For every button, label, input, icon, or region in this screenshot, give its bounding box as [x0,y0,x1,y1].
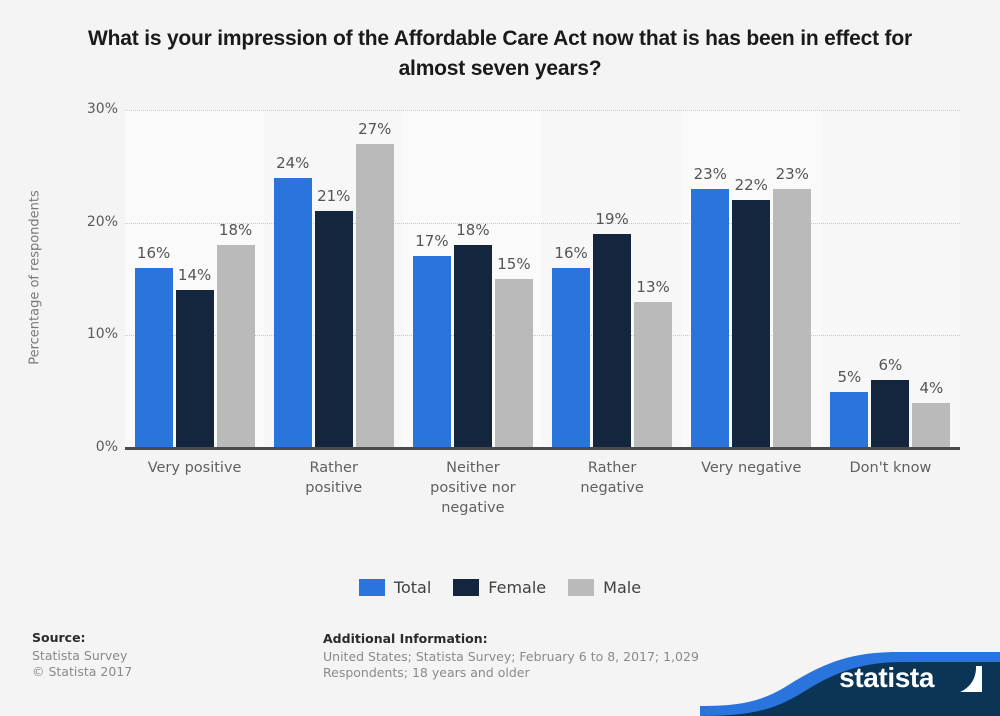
bar[interactable] [830,392,868,448]
bar[interactable] [413,256,451,448]
plot-area: 16%14%18%24%21%27%17%18%15%16%19%13%23%2… [125,110,960,448]
bar[interactable] [593,234,631,448]
y-axis-tick-label: 0% [48,439,118,455]
bar[interactable] [495,279,533,448]
bar-value-label: 16% [541,244,601,262]
legend-label: Female [488,578,546,597]
bar[interactable] [356,144,394,448]
bar-value-label: 15% [484,255,544,273]
x-axis-category-line: negative [543,478,682,498]
bar[interactable] [773,189,811,448]
gridline [125,110,960,111]
bar[interactable] [634,302,672,448]
bar-value-label: 23% [762,165,822,183]
x-axis-baseline [125,447,960,450]
bar[interactable] [315,211,353,448]
source-heading: Source: [32,630,302,645]
bar-value-label: 19% [582,210,642,228]
bar[interactable] [732,200,770,448]
x-axis-category-label: Neitherpositive nornegative [403,458,542,518]
bar-value-label: 16% [124,244,184,262]
bar-value-label: 14% [165,266,225,284]
additional-information-block: Additional Information: United States; S… [323,631,743,681]
bar[interactable] [176,290,214,448]
x-axis-category-line: positive nor [403,478,542,498]
page-title: What is your impression of the Affordabl… [60,24,940,84]
legend-item[interactable]: Total [359,578,431,597]
x-axis-category-line: Very positive [125,458,264,478]
x-axis-category-line: Very negative [682,458,821,478]
y-axis-title: Percentage of respondents [28,148,43,408]
bar[interactable] [274,178,312,448]
copyright-line: © Statista 2017 [32,664,302,680]
statista-logo: statista [700,630,1000,716]
bar[interactable] [912,403,950,448]
x-axis-category-line: Rather [543,458,682,478]
legend-item[interactable]: Female [453,578,546,597]
bar-value-label: 6% [860,356,920,374]
y-axis-tick-label: 10% [48,326,118,342]
x-axis-category-label: Don't know [821,458,960,478]
legend-swatch [359,579,385,596]
source-block: Source: Statista Survey © Statista 2017 [32,630,302,680]
legend-label: Total [394,578,431,597]
y-axis: 0%10%20%30% [40,0,118,716]
legend-label: Male [603,578,641,597]
x-axis-category-line: positive [264,478,403,498]
bar-value-label: 18% [206,221,266,239]
legend: TotalFemaleMale [0,578,1000,597]
x-axis-category-label: Very negative [682,458,821,478]
x-axis-category-line: Rather [264,458,403,478]
legend-swatch [568,579,594,596]
bar-value-label: 18% [443,221,503,239]
bar-value-label: 24% [263,154,323,172]
x-axis-category-line: negative [403,498,542,518]
bar[interactable] [217,245,255,448]
additional-information-heading: Additional Information: [323,631,743,646]
x-axis-category-label: Ratherpositive [264,458,403,498]
legend-swatch [453,579,479,596]
x-axis-category-line: Don't know [821,458,960,478]
bar-value-label: 27% [345,120,405,138]
bar[interactable] [135,268,173,448]
source-line: Statista Survey [32,648,302,664]
y-axis-tick-label: 30% [48,101,118,117]
bar[interactable] [691,189,729,448]
bar-value-label: 4% [901,379,961,397]
statista-logo-mark [946,666,982,692]
bar-value-label: 21% [304,187,364,205]
additional-information-line: Respondents; 18 years and older [323,665,743,681]
statista-logo-text: statista [839,662,934,694]
additional-information-line: United States; Statista Survey; February… [323,649,743,665]
bar-value-label: 13% [623,278,683,296]
x-axis-category-label: Very positive [125,458,264,478]
legend-item[interactable]: Male [568,578,641,597]
y-axis-tick-label: 20% [48,214,118,230]
bar[interactable] [552,268,590,448]
x-axis-category-label: Rathernegative [543,458,682,498]
x-axis-category-line: Neither [403,458,542,478]
bar[interactable] [454,245,492,448]
